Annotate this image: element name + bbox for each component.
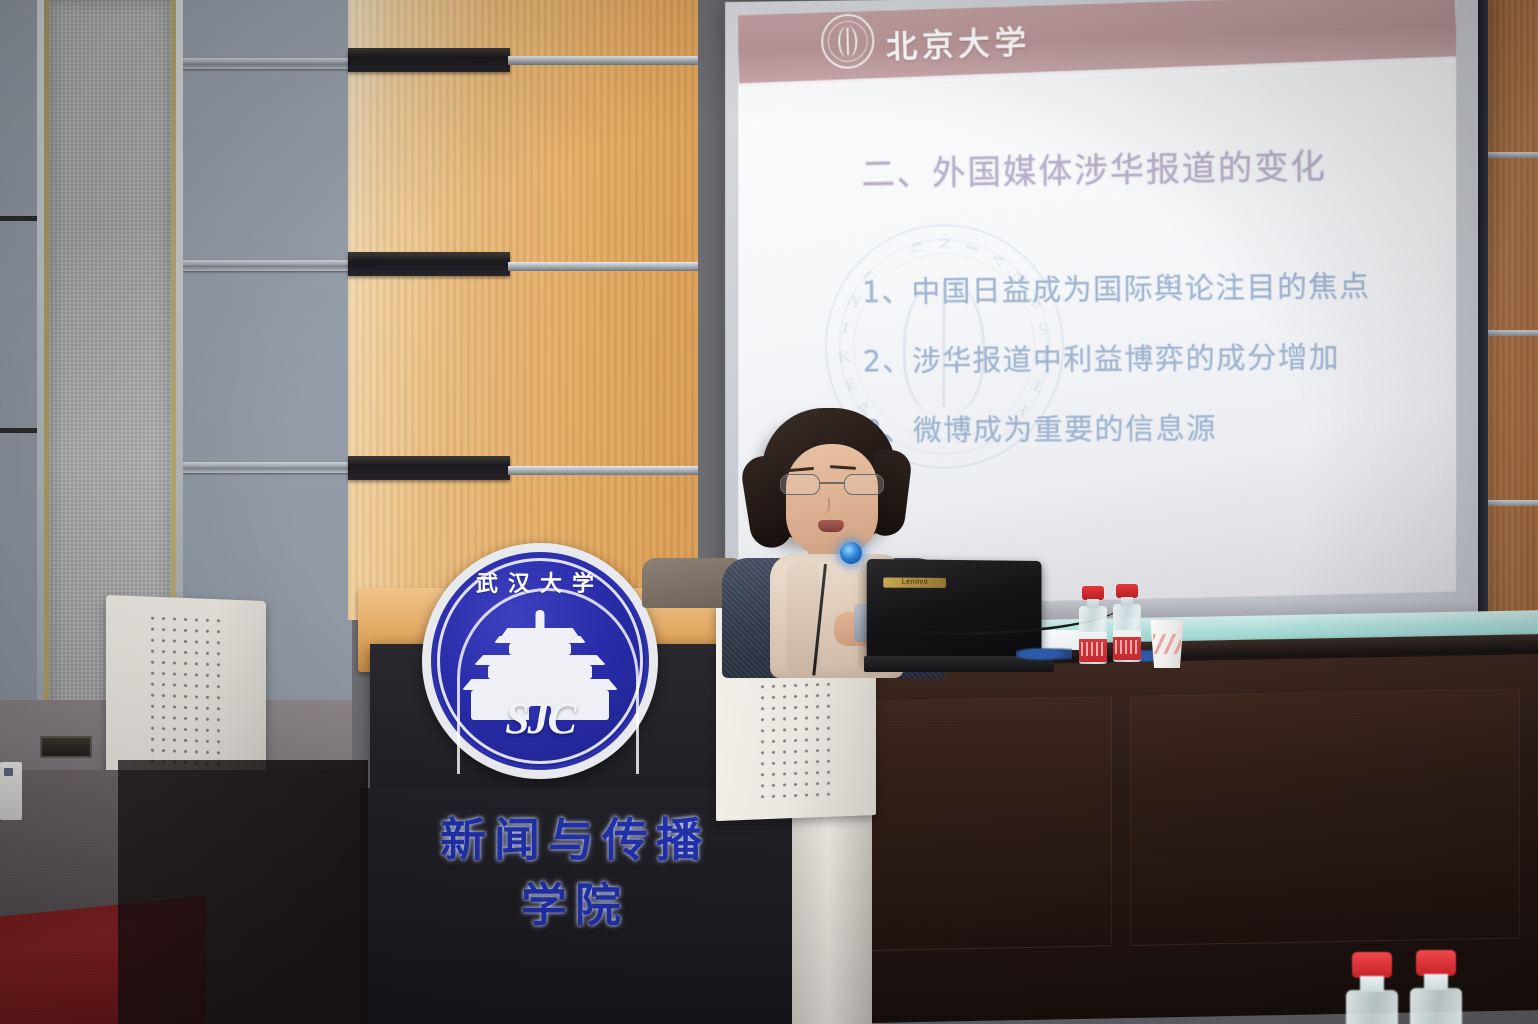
bottle-neck (1121, 597, 1133, 606)
bottle-label (1079, 632, 1107, 662)
desk-recessed-panel (1130, 689, 1520, 946)
wall-metal-strip (176, 260, 352, 271)
watermark-ring-char: N (934, 238, 953, 252)
seal-glyph (838, 25, 858, 57)
lecture-photo-scene: 北京大学 PEKINGUNIVERSITY 二、外国媒体涉华报道的变化 1、中国… (0, 0, 1538, 1024)
podium-signage-line1: 新闻与传播 (370, 808, 780, 873)
wall-outlet-plate (0, 762, 22, 820)
wall-small-frame (40, 736, 92, 758)
wood-accent-silver (1484, 330, 1538, 336)
glasses-bridge (820, 482, 844, 484)
emblem-top-text: 武汉大学 (431, 566, 649, 598)
water-bottle[interactable] (1078, 586, 1108, 664)
wood-accent-dark (348, 48, 510, 72)
glasses-lens-right (844, 474, 884, 495)
presenter-glasses-icon (780, 474, 884, 496)
laptop-brand-logo: Lenovo (883, 577, 946, 588)
bottle-body (1410, 988, 1462, 1024)
pavilion-body-1 (509, 643, 571, 655)
wood-accent-silver (508, 466, 698, 475)
slide-brand-text: 北京大学 (885, 16, 1032, 69)
presenter-mouth (818, 520, 844, 532)
water-bottle[interactable] (1112, 584, 1142, 662)
watermark-ring-char: U (905, 239, 927, 258)
bottle-label (1113, 630, 1141, 660)
pavilion-roof-1 (501, 628, 579, 637)
bottle-neck (1360, 976, 1384, 992)
bottle-cap (1082, 586, 1104, 600)
pavilion-roof-2 (474, 655, 606, 665)
podium-signage-line2: 学院 (370, 873, 780, 938)
bottle-neck (1087, 599, 1099, 608)
wood-accent-silver (1484, 500, 1538, 506)
watermark-ring-char: K (837, 346, 853, 367)
presenter-face (786, 444, 878, 556)
screen-frame-right (1478, 0, 1488, 652)
pavilion-body-2 (488, 665, 592, 679)
wood-accent-dark (348, 456, 510, 480)
glasses-lens-left (780, 474, 820, 495)
wood-accent-dark (348, 252, 510, 276)
wall-wood-panel (348, 0, 698, 620)
wall-metal-strip (176, 462, 352, 473)
wood-accent-silver (1484, 152, 1538, 158)
bottle-cap (1416, 950, 1456, 976)
floor-shadow (118, 760, 368, 1024)
slide-title: 二、外国媒体涉华报道的变化 (738, 136, 1456, 198)
wall-metal-strip (176, 58, 352, 69)
foreground-water-bottle[interactable] (1344, 952, 1400, 1024)
wood-accent-silver (508, 56, 698, 65)
pavilion-roof-1b (494, 636, 586, 643)
university-emblem: 武汉大学 SJC (422, 543, 658, 779)
slide-bullet-2: 2、涉华报道中利益博弈的成分增加 (863, 332, 1372, 380)
bottle-cap (1116, 584, 1138, 598)
watermark-ring-char: E (843, 373, 862, 396)
wall-right-wood (1484, 0, 1538, 650)
bottle-neck (1424, 974, 1448, 990)
paper-cup[interactable] (1148, 620, 1186, 668)
glowing-badge-icon (840, 542, 862, 564)
watermark-ring-char: I (841, 318, 852, 339)
foreground-water-bottle[interactable] (1408, 950, 1464, 1024)
watermark-ring-char: I (961, 242, 982, 255)
bottle-body (1346, 990, 1398, 1024)
pavilion-finial (536, 610, 545, 628)
slide-bullet-1: 1、中国日益成为国际舆论注目的焦点 (862, 262, 1371, 311)
cable-coil (1016, 646, 1072, 662)
podium-right-stem (792, 790, 872, 1024)
desk-recessed-panel (836, 696, 1112, 951)
emblem-initials: SJC (431, 693, 649, 744)
wood-accent-silver (508, 262, 698, 271)
pavilion-roof-3 (462, 679, 618, 690)
bottle-cap (1352, 952, 1392, 978)
podium-signage: 新闻与传播 学院 (370, 808, 780, 939)
